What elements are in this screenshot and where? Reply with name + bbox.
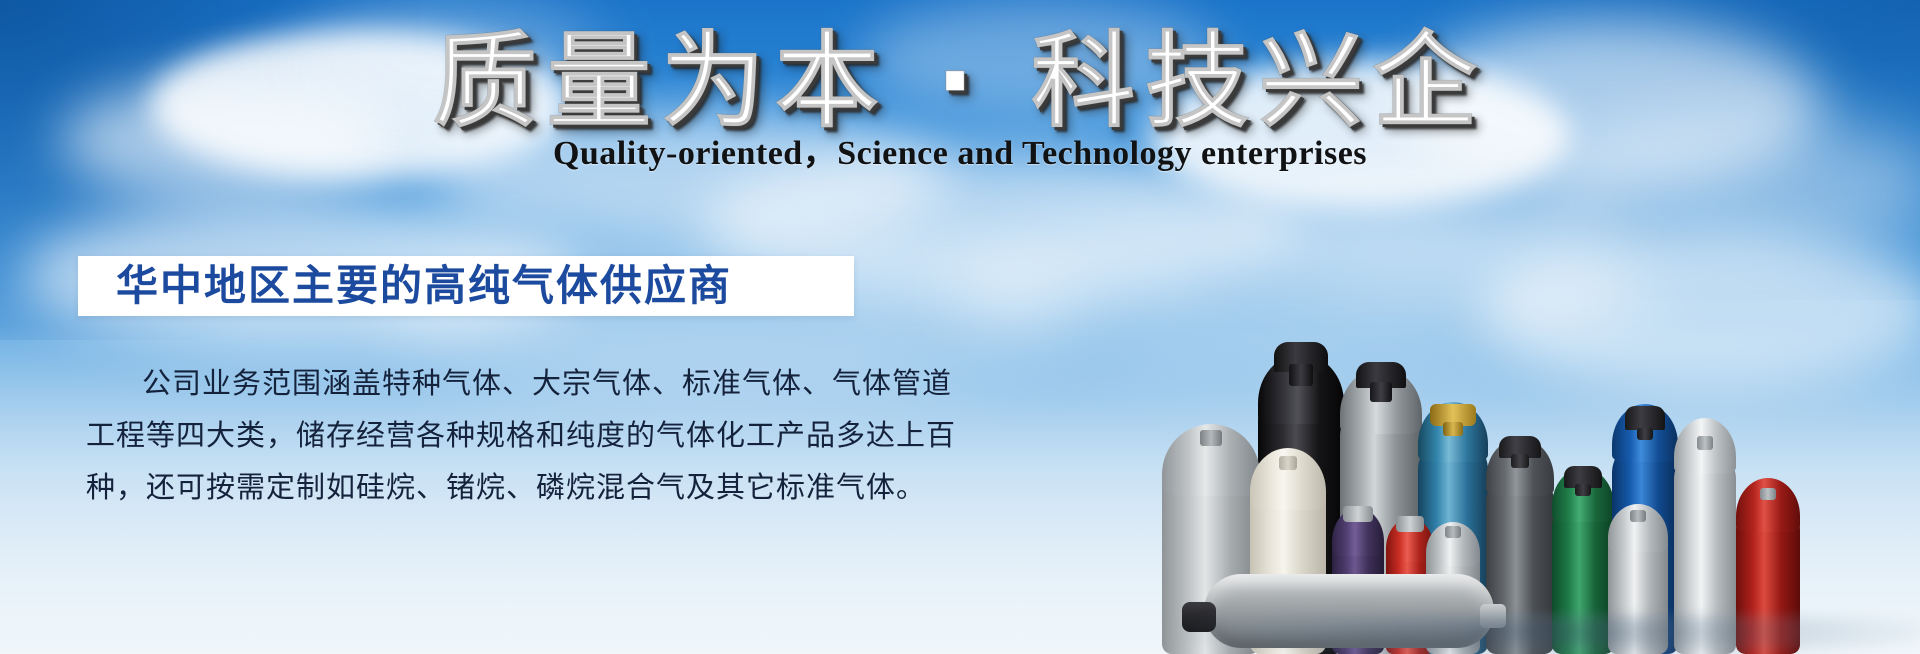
- promo-banner: 质量为本 · 科技兴企 Quality-oriented，Science and…: [0, 0, 1920, 654]
- cylinder-ground-shadow: [1180, 614, 1920, 654]
- highlight-box: 华中地区主要的高纯气体供应商: [78, 256, 854, 316]
- paragraph-line: 种，还可按需定制如硅烷、锗烷、磷烷混合气及其它标准气体。: [86, 462, 876, 514]
- page-subtitle: Quality-oriented，Science and Technology …: [0, 133, 1920, 175]
- paragraph-line: 公司业务范围涵盖特种气体、大宗气体、标准气体、气体管道: [86, 358, 876, 410]
- highlight-box-text: 华中地区主要的高纯气体供应商: [78, 263, 732, 309]
- description-paragraph: 公司业务范围涵盖特种气体、大宗气体、标准气体、气体管道 工程等四大类，储存经营各…: [86, 358, 876, 514]
- paragraph-line: 工程等四大类，储存经营各种规格和纯度的气体化工产品多达上百: [86, 410, 876, 462]
- gas-cylinder-group-image: [1180, 234, 1920, 654]
- page-title: 质量为本 · 科技兴企: [0, 22, 1920, 140]
